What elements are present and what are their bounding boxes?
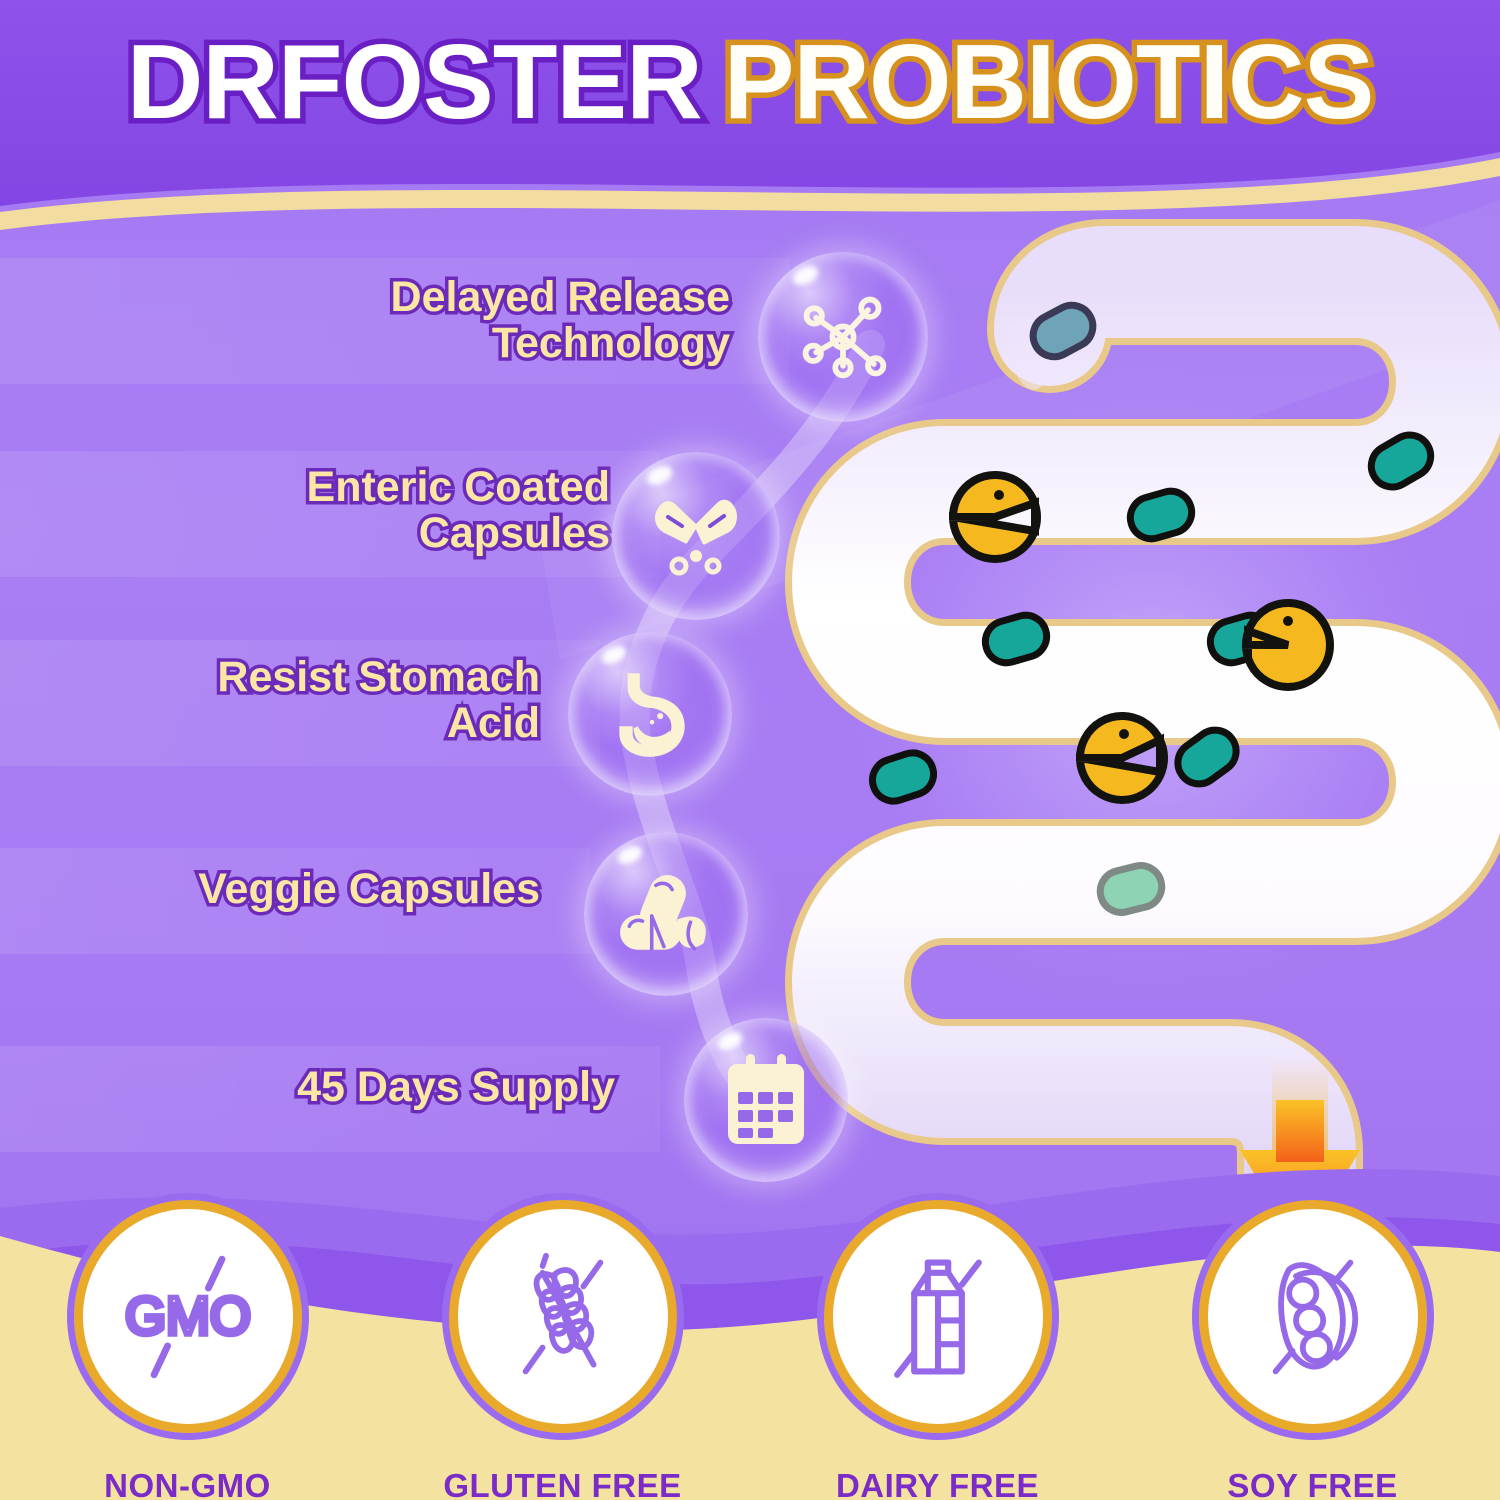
badge-label: NON-GMO — [104, 1467, 271, 1500]
gmo-crossed-icon: GMO — [103, 1232, 273, 1402]
infographic-canvas: DRFOSTER PROBIOTICS Delayed Release Tech… — [0, 0, 1500, 1500]
brand-name: DRFOSTER — [127, 29, 702, 135]
feature-bubble-enteric-coated — [612, 452, 780, 620]
feature-bubble-resist-acid — [568, 632, 732, 796]
badge-label: GLUTEN FREE — [443, 1467, 681, 1500]
feature-bubble-days-supply — [684, 1018, 848, 1182]
soybean-crossed-icon — [1228, 1232, 1398, 1402]
veggie-capsule-icon — [615, 863, 717, 965]
certification-badges: GMO NON-GMO — [0, 1200, 1500, 1500]
badge-label: DAIRY FREE — [836, 1467, 1039, 1500]
page-title: DRFOSTER PROBIOTICS — [127, 29, 1374, 135]
badge-non-gmo: GMO NON-GMO — [63, 1200, 313, 1500]
open-capsule-icon — [646, 486, 746, 586]
badge-label: SOY FREE — [1227, 1467, 1397, 1500]
feature-label: Resist Stomach Acid — [150, 654, 540, 747]
feature-label: Enteric Coated Capsules — [240, 464, 610, 557]
badge-circle — [449, 1200, 677, 1433]
feature-bubble-veggie-capsules — [584, 832, 748, 996]
badge-gluten-free: GLUTEN FREE — [438, 1200, 688, 1500]
feature-label: 45 Days Supply — [215, 1064, 615, 1110]
feature-bubble-delayed-release — [758, 252, 928, 422]
badge-circle: GMO — [74, 1200, 302, 1433]
badge-dairy-free: DAIRY FREE — [813, 1200, 1063, 1500]
wheat-crossed-icon — [478, 1232, 648, 1402]
product-name: PROBIOTICS — [724, 29, 1374, 135]
badge-soy-free: SOY FREE — [1188, 1200, 1438, 1500]
badge-circle — [824, 1200, 1052, 1433]
calendar-icon — [716, 1050, 816, 1150]
feature-label: Veggie Capsules — [140, 866, 540, 912]
milk-carton-crossed-icon — [853, 1232, 1023, 1402]
svg-text:GMO: GMO — [125, 1287, 251, 1346]
molecule-icon — [795, 289, 891, 385]
feature-label: Delayed Release Technology — [300, 274, 730, 367]
stomach-icon — [599, 663, 701, 765]
header: DRFOSTER PROBIOTICS — [0, 0, 1500, 172]
badge-circle — [1199, 1200, 1427, 1433]
